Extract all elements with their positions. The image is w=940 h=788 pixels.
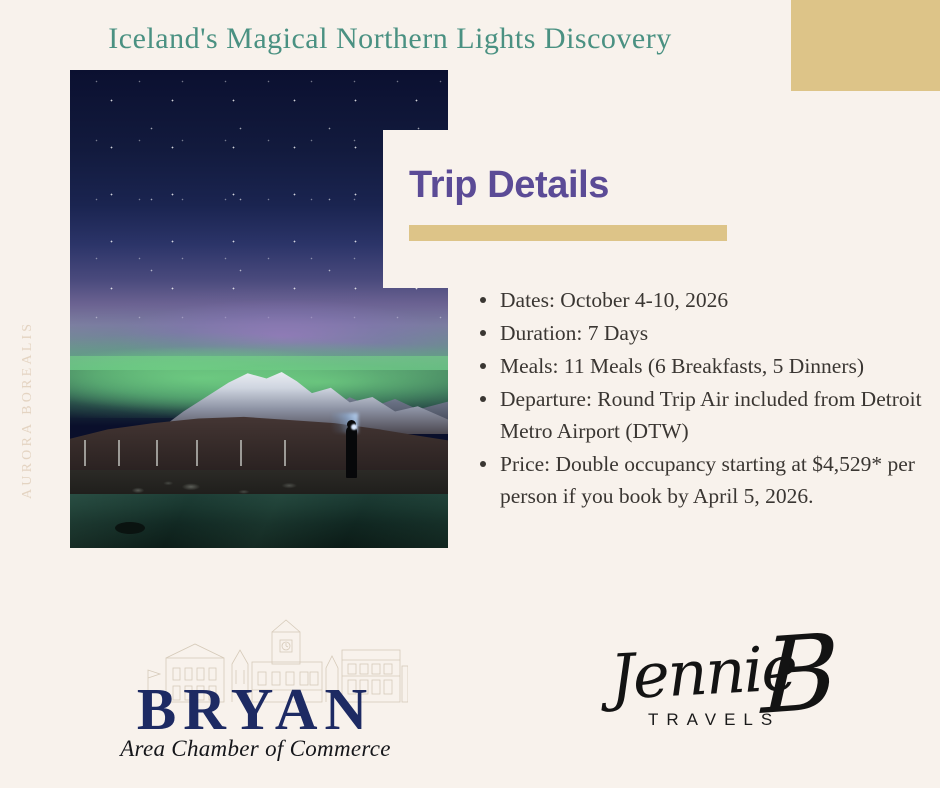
bryan-wordmark: BRYAN xyxy=(88,680,423,739)
jennie-b-travels-logo: Jennie B TRAVELS xyxy=(604,628,854,768)
heading-underline-rule xyxy=(409,225,727,241)
person-silhouette xyxy=(346,426,357,478)
water-reflection-sheen xyxy=(70,494,448,548)
panel-heading: Trip Details xyxy=(409,166,924,206)
bryan-tagline: Area Chamber of Commerce xyxy=(88,736,423,762)
headlamp-core xyxy=(351,424,357,430)
list-item: Price: Double occupancy starting at $4,5… xyxy=(478,448,923,512)
list-item: Duration: 7 Days xyxy=(478,317,923,349)
trip-details-panel: Trip Details xyxy=(409,166,924,241)
page-title: Iceland's Magical Northern Lights Discov… xyxy=(0,22,780,56)
trip-details-list: Dates: October 4-10, 2026 Duration: 7 Da… xyxy=(478,284,923,513)
travels-wordmark: TRAVELS xyxy=(648,710,780,730)
vertical-side-label: AURORA BOREALIS xyxy=(20,300,46,520)
gold-accent-block xyxy=(791,0,940,91)
bryan-chamber-logo: BRYAN Area Chamber of Commerce xyxy=(88,618,423,763)
poster-canvas: Iceland's Magical Northern Lights Discov… xyxy=(0,0,940,788)
water-rock xyxy=(115,522,145,534)
list-item: Departure: Round Trip Air included from … xyxy=(478,383,923,447)
list-item: Dates: October 4-10, 2026 xyxy=(478,284,923,316)
fence-posts xyxy=(70,440,448,474)
list-item: Meals: 11 Meals (6 Breakfasts, 5 Dinners… xyxy=(478,350,923,382)
